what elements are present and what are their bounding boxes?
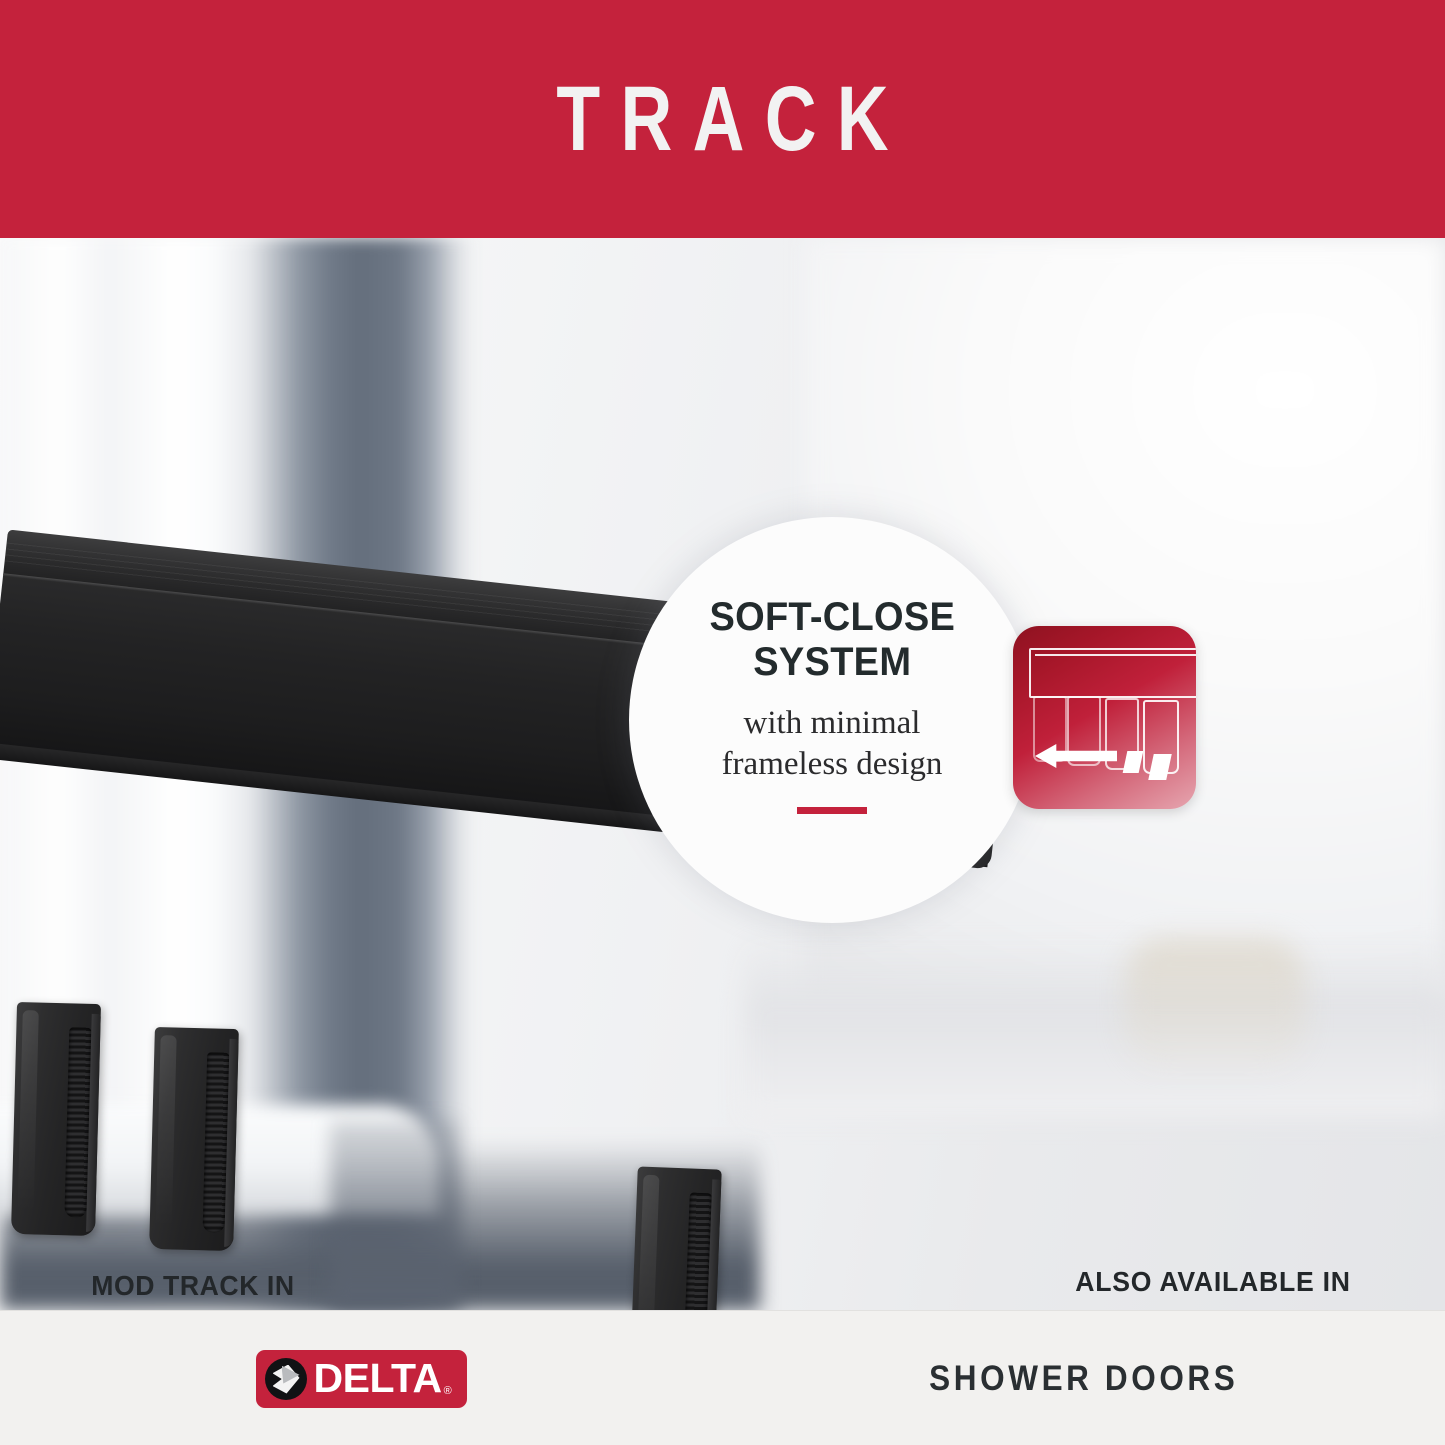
clamp-highlight — [635, 1175, 659, 1310]
badge-subtitle: with minimal frameless design — [722, 703, 943, 786]
badge-title-line1: SOFT-CLOSE — [709, 595, 955, 640]
icon-motion-tick — [1123, 751, 1144, 773]
delta-triangle-icon — [265, 1358, 307, 1400]
finish-options-heading: ALSO AVAILABLE IN — [1037, 1266, 1389, 1298]
icon-rail-top-line — [1035, 654, 1196, 664]
icon-motion-tick — [1148, 754, 1172, 780]
product-caption-line1: MOD TRACK IN — [36, 1266, 350, 1306]
delta-wordmark: DELTA — [314, 1358, 442, 1399]
badge-title-line2: SYSTEM — [709, 640, 955, 685]
badge-title: SOFT-CLOSE SYSTEM — [709, 595, 955, 685]
soft-close-badge: SOFT-CLOSE SYSTEM with minimal frameless… — [629, 517, 1035, 923]
door-bracket-clamp — [149, 1027, 239, 1251]
finish-options: ALSO AVAILABLE IN CHROME BRUSHED NICKEL — [1028, 1266, 1398, 1310]
clamp-highlight — [156, 1035, 177, 1227]
product-marketing-image: TRACK — [0, 0, 1445, 1445]
footer-brand-area: DELTA ® — [0, 1311, 722, 1445]
delta-logo[interactable]: DELTA ® — [256, 1350, 467, 1408]
badge-subtitle-line2: frameless design — [722, 744, 943, 785]
background-bottles — [1125, 938, 1305, 1068]
page-title: TRACK — [159, 0, 1286, 238]
badge-accent-rule — [797, 807, 867, 814]
footer-bar: DELTA ® SHOWER DOORS — [0, 1310, 1445, 1445]
header-banner: TRACK — [0, 0, 1445, 238]
clamp-highlight — [18, 1010, 39, 1212]
door-bracket-clamp — [628, 1166, 722, 1310]
soft-close-sliding-door-icon — [1013, 626, 1196, 809]
product-caption: MOD TRACK IN MATTE BLACK — [36, 1266, 350, 1310]
footer-category-area: SHOWER DOORS — [722, 1311, 1445, 1445]
product-photo: SOFT-CLOSE SYSTEM with minimal frameless… — [0, 238, 1445, 1310]
registered-mark-icon: ® — [444, 1385, 452, 1397]
footer-category-label: SHOWER DOORS — [929, 1359, 1238, 1399]
badge-subtitle-line1: with minimal — [722, 703, 943, 744]
door-bracket-clamp — [11, 1002, 101, 1236]
